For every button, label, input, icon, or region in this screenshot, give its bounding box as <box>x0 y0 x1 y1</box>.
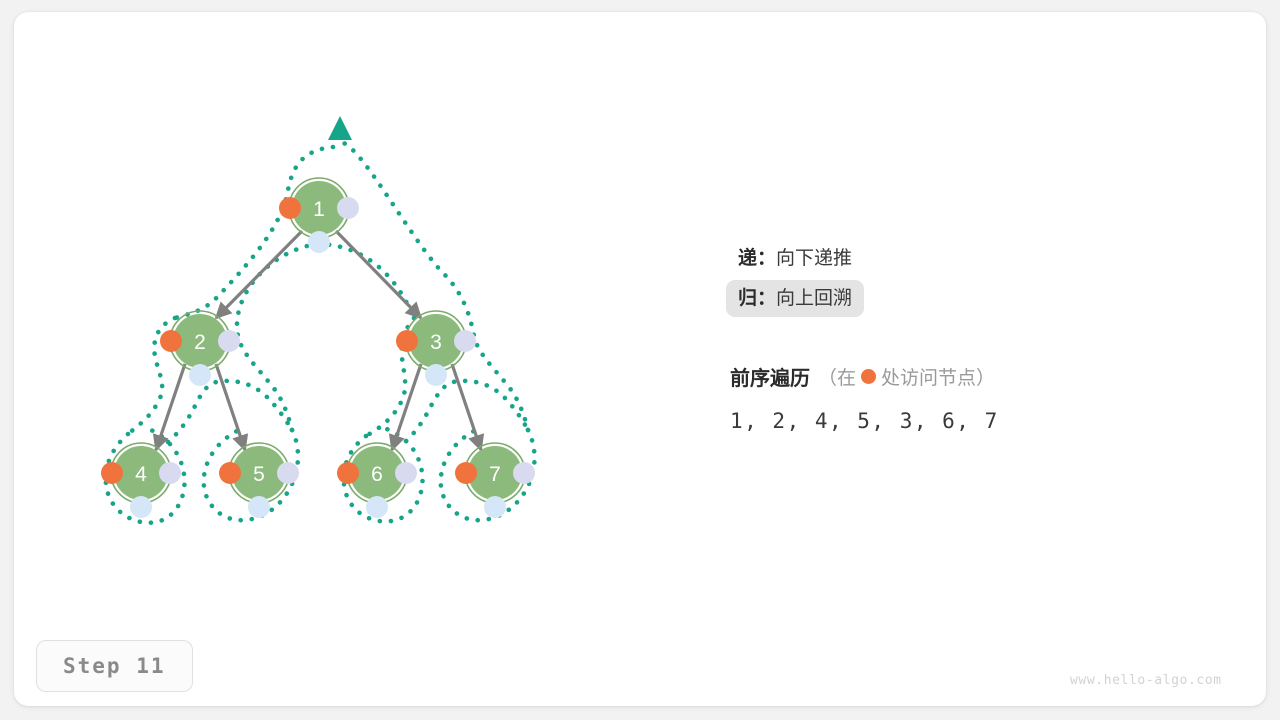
edge-1-2 <box>216 231 302 318</box>
right-slot-dot-icon <box>159 462 181 484</box>
node-label: 5 <box>253 463 265 486</box>
visit-dot-icon <box>101 462 123 484</box>
legend-row-recurse: 递：向下递推 <box>726 240 864 278</box>
visit-dot-icon <box>337 462 359 484</box>
tree-node-3[interactable]: 3 <box>396 311 476 386</box>
tree-node-6[interactable]: 6 <box>337 443 417 518</box>
node-label: 3 <box>430 331 442 354</box>
legend-key-backtrack: 归： <box>738 288 776 309</box>
right-slot-dot-icon <box>513 462 535 484</box>
legend-panel: 递：向下递推 归：向上回溯 <box>726 240 1146 319</box>
path-1-to-3 <box>318 244 414 318</box>
tree-node-2[interactable]: 2 <box>160 311 240 386</box>
right-slot-dot-icon <box>277 462 299 484</box>
screenshot-root: 1 2 3 <box>0 0 1280 720</box>
edge-1-3 <box>336 231 421 318</box>
legend-value-recurse: 向下递推 <box>776 248 852 269</box>
tree-node-7[interactable]: 7 <box>455 443 535 518</box>
node-label: 2 <box>194 331 206 354</box>
step-badge: Step 11 <box>36 640 193 692</box>
node-label: 1 <box>313 198 325 221</box>
bottom-slot-dot-icon <box>484 496 506 518</box>
legend-key-recurse: 递： <box>738 248 776 269</box>
traversal-result: 前序遍历 （在 处访问节点） 1, 2, 4, 5, 3, 6, 7 <box>730 362 1190 433</box>
legend-row-backtrack: 归：向上回溯 <box>726 280 864 318</box>
right-slot-dot-icon <box>337 197 359 219</box>
binary-tree-diagram: 1 2 3 <box>0 0 1280 720</box>
right-slot-dot-icon <box>395 462 417 484</box>
traversal-title-line: 前序遍历 （在 处访问节点） <box>730 362 1190 391</box>
bottom-slot-dot-icon <box>308 231 330 253</box>
bottom-slot-dot-icon <box>248 496 270 518</box>
legend-value-backtrack: 向上回溯 <box>776 288 852 309</box>
node-label: 4 <box>135 463 147 486</box>
visit-dot-icon <box>219 462 241 484</box>
tree-node-4[interactable]: 4 <box>101 443 181 518</box>
right-slot-dot-icon <box>218 330 240 352</box>
path-5-up-to-1 <box>237 244 318 430</box>
visit-dot-icon <box>861 369 876 384</box>
bottom-slot-dot-icon <box>189 364 211 386</box>
bottom-slot-dot-icon <box>366 496 388 518</box>
edge-3-6 <box>392 364 421 450</box>
visit-dot-icon <box>455 462 477 484</box>
bottom-slot-dot-icon <box>425 364 447 386</box>
recursion-marker-icon <box>328 116 352 140</box>
traversal-note-suffix: 处访问节点） <box>881 363 995 390</box>
node-label: 6 <box>371 463 383 486</box>
visit-dot-icon <box>160 330 182 352</box>
right-slot-dot-icon <box>454 330 476 352</box>
visit-dot-icon <box>396 330 418 352</box>
visit-dot-icon <box>279 197 301 219</box>
node-label: 7 <box>489 463 501 486</box>
watermark: www.hello-algo.com <box>1070 673 1222 688</box>
tree-nodes: 1 2 3 <box>101 178 535 518</box>
traversal-note-prefix: （在 <box>818 363 856 390</box>
edge-2-5 <box>216 364 245 450</box>
tree-node-5[interactable]: 5 <box>219 443 299 518</box>
bottom-slot-dot-icon <box>130 496 152 518</box>
path-7-up-to-root <box>342 142 528 430</box>
traversal-title: 前序遍历 <box>730 362 810 391</box>
traversal-sequence: 1, 2, 4, 5, 3, 6, 7 <box>730 409 1190 433</box>
traversal-note: （在 处访问节点） <box>818 363 995 390</box>
